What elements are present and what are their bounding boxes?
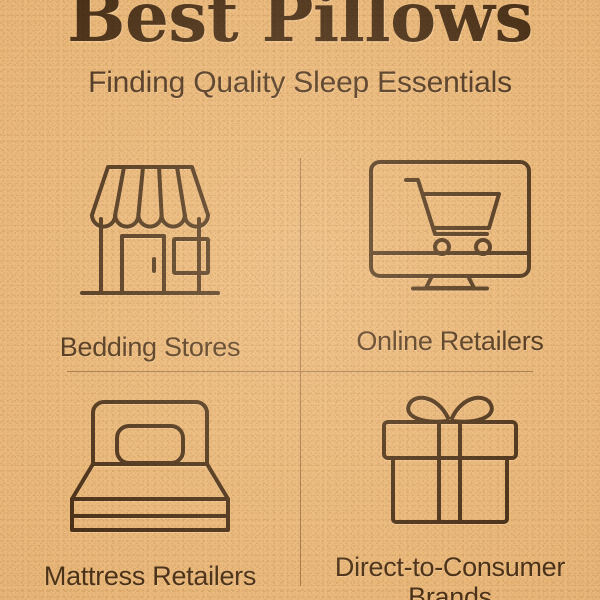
poster-header: Best Pillows Finding Quality Sleep Essen… bbox=[0, 0, 600, 99]
monitor-shopping-cart-icon bbox=[365, 156, 535, 296]
category-label: Mattress Retailers bbox=[44, 561, 256, 591]
category-item-bedding-stores[interactable]: Bedding Stores bbox=[0, 140, 300, 372]
category-label: Direct-to-Consumer Brands bbox=[305, 552, 595, 600]
gift-box-icon bbox=[375, 389, 525, 529]
category-label: Online Retailers bbox=[356, 326, 543, 356]
category-label: Bedding Stores bbox=[60, 332, 240, 362]
bed-icon bbox=[62, 396, 238, 536]
category-item-mattress-retailers[interactable]: Mattress Retailers bbox=[0, 372, 300, 600]
category-grid: Bedding Stores bbox=[0, 140, 600, 600]
category-item-direct-to-consumer-brands[interactable]: Direct-to-Consumer Brands bbox=[300, 372, 600, 600]
storefront-icon bbox=[60, 153, 240, 308]
page-subtitle: Finding Quality Sleep Essentials bbox=[0, 52, 600, 99]
page-title: Best Pillows bbox=[0, 0, 600, 52]
infographic-poster: Best Pillows Finding Quality Sleep Essen… bbox=[0, 0, 600, 600]
category-item-online-retailers[interactable]: Online Retailers bbox=[300, 140, 600, 372]
